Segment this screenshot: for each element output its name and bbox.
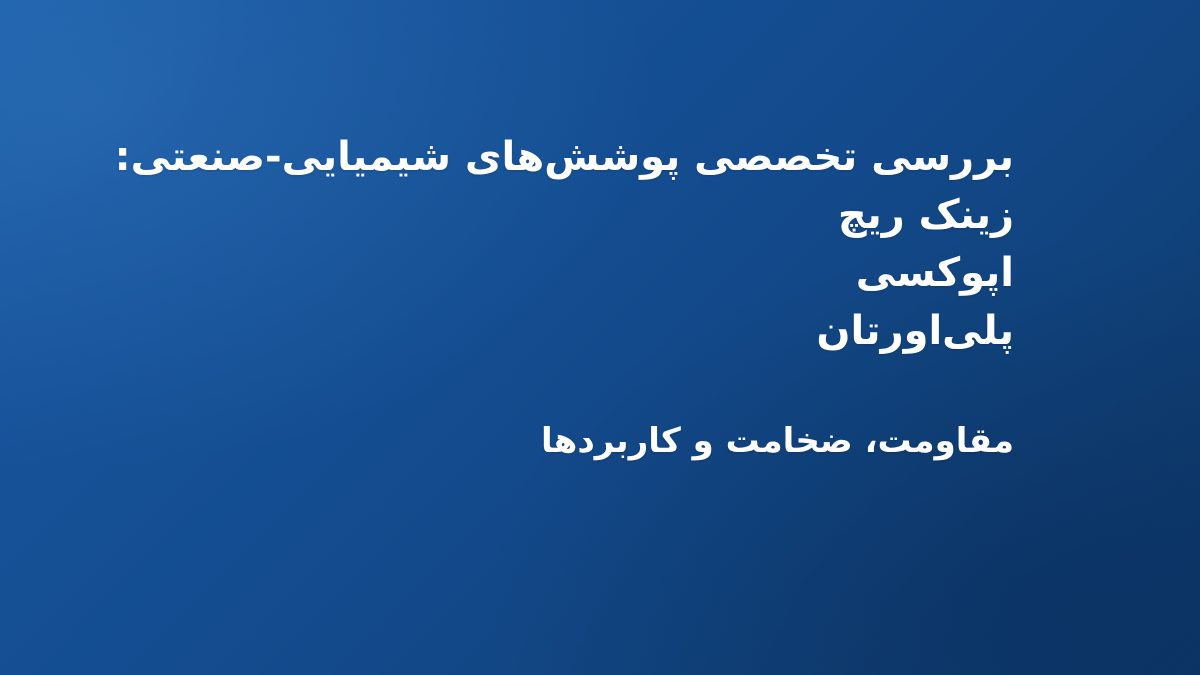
title-line-3: اپوکسی <box>186 244 1014 302</box>
page-subtitle: مقاومت، ضخامت و کاربردها <box>186 360 1014 466</box>
title-line-1: بررسی تخصصی پوشش‌های شیمیایی-صنعتی: <box>186 128 1014 186</box>
page-title: بررسی تخصصی پوشش‌های شیمیایی-صنعتی: زینک… <box>186 128 1014 360</box>
slide-content: بررسی تخصصی پوشش‌های شیمیایی-صنعتی: زینک… <box>0 0 1200 466</box>
title-line-4: پلی‌اورتان <box>186 302 1014 360</box>
title-slide: بررسی تخصصی پوشش‌های شیمیایی-صنعتی: زینک… <box>0 0 1200 675</box>
title-line-2: زینک ریچ <box>186 186 1014 244</box>
